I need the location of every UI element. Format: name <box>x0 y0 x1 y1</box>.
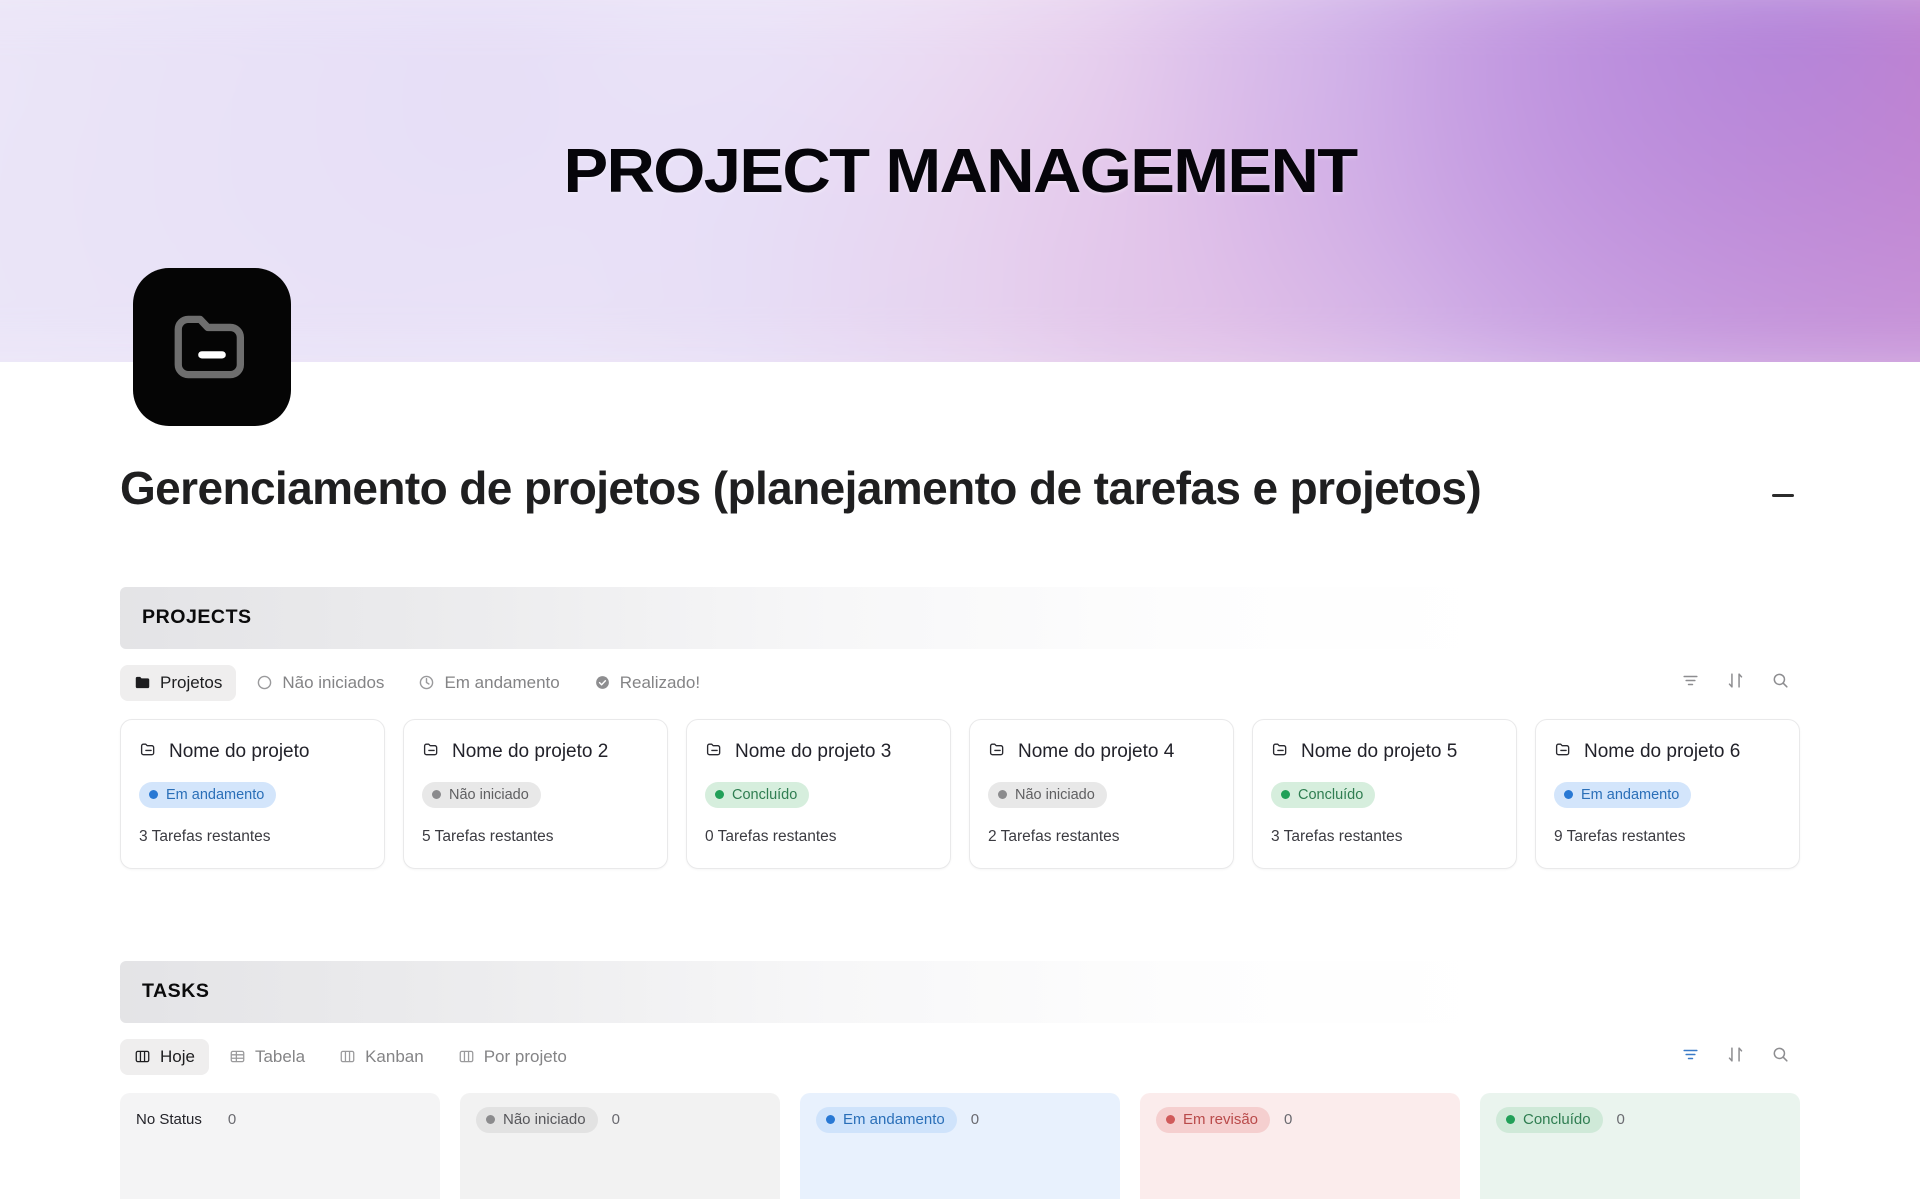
kanban-column-chip: Concluído <box>1496 1107 1603 1133</box>
projects-tabbar: Projetos Não iniciados <box>120 665 1800 701</box>
project-card-tasks: 2 Tarefas restantes <box>988 828 1215 846</box>
tab-projetos[interactable]: Projetos <box>120 665 236 701</box>
tab-tabela[interactable]: Tabela <box>215 1039 319 1075</box>
project-card-title: Nome do projeto 6 <box>1584 741 1740 763</box>
page-title: Gerenciamento de projetos (planejamento … <box>120 462 1481 515</box>
project-card[interactable]: Nome do projeto Em andamento 3 Tarefas r… <box>120 719 385 869</box>
status-dot <box>998 790 1007 799</box>
projects-tools <box>1681 671 1796 695</box>
project-card-title: Nome do projeto <box>169 741 309 763</box>
kanban-column-head: Concluído 0 <box>1496 1107 1784 1133</box>
folder-outline-icon <box>1554 740 1573 764</box>
tab-kanban-label: Kanban <box>365 1047 424 1067</box>
card-head: Nome do projeto 6 <box>1554 740 1781 764</box>
project-card-tasks: 3 Tarefas restantes <box>1271 828 1498 846</box>
card-head: Nome do projeto 5 <box>1271 740 1498 764</box>
kanban-column-label: Concluído <box>1523 1111 1591 1128</box>
kanban-column-chip: Em andamento <box>816 1107 957 1133</box>
tasks-tools <box>1681 1045 1796 1069</box>
status-dot <box>1166 1115 1175 1124</box>
tab-hoje-label: Hoje <box>160 1047 195 1067</box>
kanban-column-count: 0 <box>971 1111 979 1128</box>
project-card-title: Nome do projeto 2 <box>452 741 608 763</box>
status-badge-label: Em andamento <box>1581 787 1679 803</box>
status-dot <box>1281 790 1290 799</box>
status-badge-label: Não iniciado <box>449 787 529 803</box>
folder-outline-icon <box>705 740 724 764</box>
project-card[interactable]: Nome do projeto 5 Concluído 3 Tarefas re… <box>1252 719 1517 869</box>
filter-icon[interactable] <box>1681 671 1700 695</box>
tab-realizado-label: Realizado! <box>620 673 700 693</box>
project-cards: Nome do projeto Em andamento 3 Tarefas r… <box>120 719 1800 869</box>
circle-icon <box>256 674 273 691</box>
tab-projetos-label: Projetos <box>160 673 222 693</box>
kanban-column-chip: Não iniciado <box>476 1107 598 1133</box>
tasks-section-label: TASKS <box>142 981 209 1003</box>
table-grid-icon <box>229 1048 246 1065</box>
card-head: Nome do projeto 2 <box>422 740 649 764</box>
status-dot <box>715 790 724 799</box>
tasks-section: TASKS Hoje <box>120 961 1800 1199</box>
kanban-column-label: Em revisão <box>1183 1111 1258 1128</box>
project-card-title: Nome do projeto 3 <box>735 741 891 763</box>
project-card-tasks: 9 Tarefas restantes <box>1554 828 1781 846</box>
status-dot <box>432 790 441 799</box>
kanban-column-chip: No Status <box>136 1107 214 1133</box>
status-badge: Em andamento <box>139 782 276 808</box>
project-card[interactable]: Nome do projeto 4 Não iniciado 2 Tarefas… <box>969 719 1234 869</box>
search-icon[interactable] <box>1771 1045 1790 1069</box>
check-circle-icon <box>594 674 611 691</box>
project-card[interactable]: Nome do projeto 2 Não iniciado 5 Tarefas… <box>403 719 668 869</box>
status-badge: Concluído <box>705 782 809 808</box>
folder-outline-icon <box>422 740 441 764</box>
kanban-column-head: Em revisão 0 <box>1156 1107 1444 1133</box>
status-badge: Não iniciado <box>988 782 1107 808</box>
tasks-kanban-columns: No Status 0 Não iniciado 0 <box>120 1093 1800 1199</box>
card-head: Nome do projeto 3 <box>705 740 932 764</box>
projects-section-banner: PROJECTS <box>120 587 1800 649</box>
tab-kanban[interactable]: Kanban <box>325 1039 438 1075</box>
kanban-column[interactable]: Concluído 0 <box>1480 1093 1800 1199</box>
status-badge-label: Concluído <box>732 787 797 803</box>
status-badge: Em andamento <box>1554 782 1691 808</box>
kanban-column-label: Em andamento <box>843 1111 945 1128</box>
kanban-column-chip: Em revisão <box>1156 1107 1270 1133</box>
sort-icon[interactable] <box>1726 1045 1745 1069</box>
status-badge-label: Não iniciado <box>1015 787 1095 803</box>
folder-app-icon <box>133 268 291 426</box>
projects-tabs: Projetos Não iniciados <box>120 665 714 701</box>
tasks-tabbar: Hoje Tabela <box>120 1039 1800 1075</box>
folder-filled-icon <box>134 674 151 691</box>
projects-section-label: PROJECTS <box>142 607 252 629</box>
search-icon[interactable] <box>1771 671 1790 695</box>
title-row: Gerenciamento de projetos (planejamento … <box>120 362 1800 515</box>
kanban-column-count: 0 <box>228 1111 236 1128</box>
status-dot <box>1564 790 1573 799</box>
card-head: Nome do projeto <box>139 740 366 764</box>
tab-hoje[interactable]: Hoje <box>120 1039 209 1075</box>
folder-outline-icon <box>1271 740 1290 764</box>
board-columns-icon <box>458 1048 475 1065</box>
kanban-column-head: Não iniciado 0 <box>476 1107 764 1133</box>
tab-nao-iniciados-label: Não iniciados <box>282 673 384 693</box>
tab-realizado[interactable]: Realizado! <box>580 665 714 701</box>
filter-icon[interactable] <box>1681 1045 1700 1069</box>
project-card-title: Nome do projeto 5 <box>1301 741 1457 763</box>
tab-tabela-label: Tabela <box>255 1047 305 1067</box>
status-dot <box>149 790 158 799</box>
status-dot <box>826 1115 835 1124</box>
project-card[interactable]: Nome do projeto 3 Concluído 0 Tarefas re… <box>686 719 951 869</box>
kanban-column[interactable]: Em revisão 0 <box>1140 1093 1460 1199</box>
status-badge: Não iniciado <box>422 782 541 808</box>
minimize-icon[interactable] <box>1766 478 1800 512</box>
project-card-title: Nome do projeto 4 <box>1018 741 1174 763</box>
tab-nao-iniciados[interactable]: Não iniciados <box>242 665 398 701</box>
status-badge-label: Em andamento <box>166 787 264 803</box>
tab-por-projeto-label: Por projeto <box>484 1047 567 1067</box>
kanban-column-label: No Status <box>136 1111 202 1128</box>
page-content: Gerenciamento de projetos (planejamento … <box>0 362 1920 1199</box>
kanban-column-head: Em andamento 0 <box>816 1107 1104 1133</box>
kanban-column-count: 0 <box>1617 1111 1625 1128</box>
card-head: Nome do projeto 4 <box>988 740 1215 764</box>
status-badge: Concluído <box>1271 782 1375 808</box>
board-columns-icon <box>134 1048 151 1065</box>
project-card-tasks: 5 Tarefas restantes <box>422 828 649 846</box>
sort-icon[interactable] <box>1726 671 1745 695</box>
project-card-tasks: 0 Tarefas restantes <box>705 828 932 846</box>
kanban-column-count: 0 <box>612 1111 620 1128</box>
folder-outline-icon <box>139 740 158 764</box>
projects-section: PROJECTS Projetos <box>120 587 1800 869</box>
kanban-column[interactable]: Em andamento 0 <box>800 1093 1120 1199</box>
status-badge-label: Concluído <box>1298 787 1363 803</box>
tasks-section-banner: TASKS <box>120 961 1800 1023</box>
kanban-column-count: 0 <box>1284 1111 1292 1128</box>
board-columns-icon <box>339 1048 356 1065</box>
status-dot <box>1506 1115 1515 1124</box>
clock-icon <box>418 674 435 691</box>
tab-em-andamento[interactable]: Em andamento <box>404 665 573 701</box>
status-dot <box>486 1115 495 1124</box>
tab-por-projeto[interactable]: Por projeto <box>444 1039 581 1075</box>
kanban-column-head: No Status 0 <box>136 1107 424 1133</box>
folder-outline-icon <box>988 740 1007 764</box>
kanban-column[interactable]: Não iniciado 0 <box>460 1093 780 1199</box>
project-card[interactable]: Nome do projeto 6 Em andamento 9 Tarefas… <box>1535 719 1800 869</box>
tab-em-andamento-label: Em andamento <box>444 673 559 693</box>
kanban-column-label: Não iniciado <box>503 1111 586 1128</box>
project-card-tasks: 3 Tarefas restantes <box>139 828 366 846</box>
tasks-tabs: Hoje Tabela <box>120 1039 581 1075</box>
kanban-column[interactable]: No Status 0 <box>120 1093 440 1199</box>
cover-banner-title: PROJECT MANAGEMENT <box>0 136 1920 207</box>
